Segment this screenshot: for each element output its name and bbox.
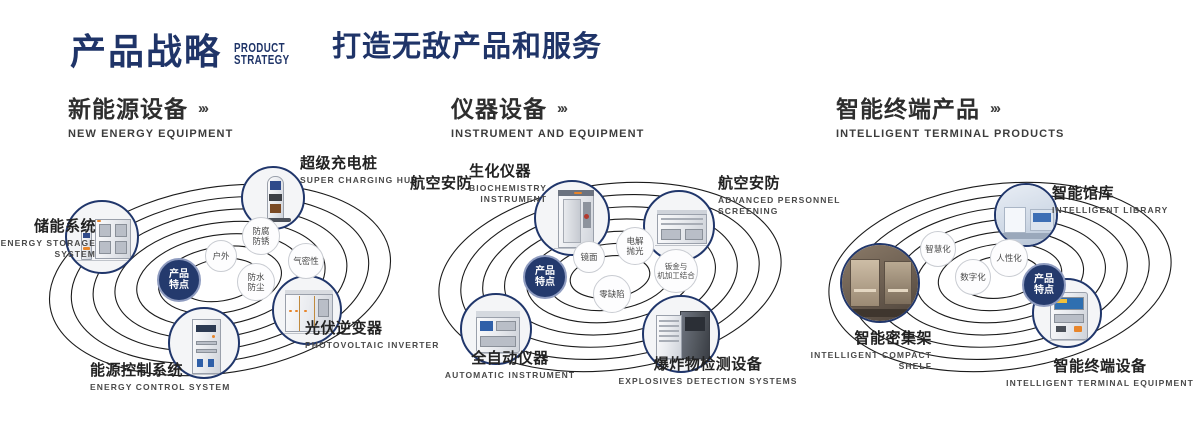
feature-bubble-anticorrosion[interactable]: 防腐 防锈 (242, 217, 280, 255)
product-label-energy-storage: 储能系统 ENERGY STORAGE SYSTEM (0, 218, 96, 260)
product-label-aviation-security-left: 航空安防 (410, 175, 472, 193)
feature-bubble-digital[interactable]: 数字化 (955, 259, 991, 295)
product-label-en: INTELLIGENT COMPACT SHELF (790, 350, 932, 372)
product-label-cn: 航空安防 (410, 175, 472, 193)
page-subtitle: 打造无敌产品和服务 (332, 33, 602, 62)
section-title-instrument: 仪器设备››› INSTRUMENT AND EQUIPMENT (451, 96, 644, 140)
product-label-en: INTELLIGENT TERMINAL EQUIPMENT (1000, 378, 1200, 389)
feature-bubble-sheetmetal-machining[interactable]: 钣金与 机加工结合 (654, 249, 698, 293)
product-label-en: AUTOMATIC INSTRUMENT (375, 370, 645, 381)
product-circle-smart-library[interactable] (994, 183, 1058, 247)
core-bubble-product-features[interactable]: 产品 特点 (523, 255, 567, 299)
chevron-right-icon: ››› (198, 96, 207, 122)
product-label-compact-shelf: 智能密集架 INTELLIGENT COMPACT SHELF (790, 330, 932, 372)
feature-bubble-electropolishing[interactable]: 电解 抛光 (616, 227, 654, 265)
product-strategy-infographic: 产品战略 PRODUCT STRATEGY 打造无敌产品和服务 新能源设备›››… (0, 0, 1200, 422)
feature-bubble-airtight[interactable]: 气密性 (288, 243, 324, 279)
section-title-cn: 仪器设备 (451, 96, 547, 122)
product-label-terminal-equipment: 智能终端设备 INTELLIGENT TERMINAL EQUIPMENT (1000, 358, 1200, 389)
feature-bubble-mirror[interactable]: 镜面 (573, 241, 605, 273)
product-label-cn: 能源控制系统 (90, 362, 230, 380)
section-title-cn: 智能终端产品 (836, 96, 980, 122)
chevron-right-icon: ››› (990, 96, 999, 122)
product-label-cn: 全自动仪器 (375, 350, 645, 368)
product-label-en: SUPER CHARGING HUB (300, 175, 419, 186)
page-header: 产品战略 PRODUCT STRATEGY (70, 26, 305, 78)
feature-bubble-outdoor[interactable]: 户外 (205, 240, 237, 272)
product-label-cn: 智能密集架 (790, 330, 932, 348)
section-title-en: INSTRUMENT AND EQUIPMENT (451, 128, 644, 140)
product-label-en: BIOCHEMISTRY INSTRUMENT (469, 183, 547, 205)
product-label-smart-library: 智能馆库 INTELLIGENT LIBRARY (1052, 185, 1168, 216)
feature-bubble-zero-defect[interactable]: 零缺陷 (593, 275, 631, 313)
core-bubble-product-features[interactable]: 产品 特点 (1022, 263, 1066, 307)
section-title-cn: 新能源设备 (68, 96, 188, 122)
section-title-intelligent: 智能终端产品››› INTELLIGENT TERMINAL PRODUCTS (836, 96, 1064, 140)
product-label-en: ENERGY CONTROL SYSTEM (90, 382, 230, 393)
product-label-en: INTELLIGENT LIBRARY (1052, 205, 1168, 216)
page-title-cn: 产品战略 (70, 34, 222, 70)
section-title-new-energy: 新能源设备››› NEW ENERGY EQUIPMENT (68, 96, 233, 140)
product-label-cn: 超级充电桩 (300, 155, 419, 173)
product-label-automatic-instrument: 全自动仪器 AUTOMATIC INSTRUMENT (375, 350, 645, 381)
product-label-biochemistry: 生化仪器 BIOCHEMISTRY INSTRUMENT (469, 163, 547, 205)
product-circle-compact-shelf[interactable] (840, 243, 920, 323)
product-label-cn: 储能系统 (0, 218, 96, 236)
product-label-cn: 生化仪器 (469, 163, 547, 181)
feature-bubble-humanized[interactable]: 人性化 (990, 239, 1028, 277)
product-label-cn: 智能终端设备 (1000, 358, 1200, 376)
product-label-en: ENERGY STORAGE SYSTEM (0, 238, 96, 260)
core-bubble-product-features[interactable]: 产品 特点 (157, 258, 201, 302)
feature-bubble-waterproof[interactable]: 防水 防尘 (237, 263, 275, 301)
section-title-en: INTELLIGENT TERMINAL PRODUCTS (836, 128, 1064, 140)
product-label-cn: 智能馆库 (1052, 185, 1168, 203)
chevron-right-icon: ››› (557, 96, 566, 122)
smart-library-icon (996, 185, 1056, 245)
feature-bubble-smart[interactable]: 智慧化 (920, 231, 956, 267)
section-title-en: NEW ENERGY EQUIPMENT (68, 128, 233, 140)
compact-shelf-icon (842, 245, 918, 321)
page-title-en: PRODUCT STRATEGY (234, 39, 289, 66)
product-label-charging-pile: 超级充电桩 SUPER CHARGING HUB (300, 155, 419, 186)
product-label-control-system: 能源控制系统 ENERGY CONTROL SYSTEM (90, 362, 230, 393)
